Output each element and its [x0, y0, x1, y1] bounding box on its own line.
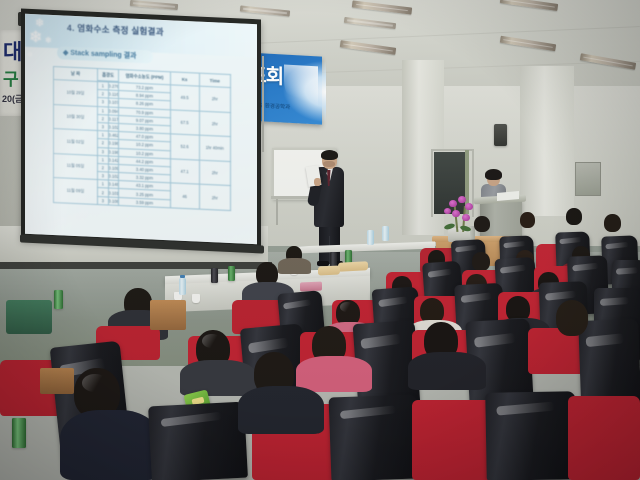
audience-shoulders [180, 360, 256, 396]
presenter-face-shadow [323, 161, 335, 167]
drink-can [211, 268, 218, 283]
cell-date: 11월 05일 [54, 153, 98, 180]
cell-ks: 47.1 [170, 159, 199, 185]
banner-left-line1: 대 [3, 36, 21, 66]
cell-date: 11월 09일 [54, 178, 98, 205]
orchid-flower [462, 214, 470, 221]
cell-time: 2hr [199, 184, 230, 210]
cell-ppm: 3.59 ppm [119, 197, 170, 208]
cell-no: 3 [97, 196, 108, 205]
audience-head [604, 214, 621, 232]
banner-left-line2: 구 [3, 65, 19, 90]
cell-date: 10월 30일 [54, 104, 98, 131]
audience-shoulders [408, 352, 486, 390]
cell-date: 10월 29일 [54, 80, 98, 107]
presenter-hand [314, 178, 321, 186]
wall-speaker-icon [494, 124, 507, 146]
snack-box [300, 282, 322, 292]
cell-ks: 49.5 [170, 85, 199, 111]
bottle-cap [180, 275, 185, 278]
banner-support-pole [262, 56, 264, 152]
hair-highlight [340, 302, 354, 312]
hair-highlight [82, 374, 108, 392]
paper-cup [192, 294, 200, 303]
audience-head [474, 216, 490, 232]
wooden-armrest [150, 300, 186, 330]
audience-shoulders [278, 258, 311, 274]
cell-ks: 52.6 [170, 134, 199, 160]
drink-can [54, 290, 63, 309]
snowflake-icon: ❄ [35, 18, 44, 29]
pillar [520, 66, 574, 216]
orchid-flower [452, 210, 460, 217]
cell-ks: 46 [170, 183, 199, 209]
green-bag [6, 300, 52, 334]
whiteboard-leg [276, 199, 278, 225]
audience-shoulders [238, 386, 324, 434]
seat-back [485, 391, 577, 480]
seat-cushion [568, 396, 640, 480]
water-bottle [367, 230, 374, 245]
lecture-hall-photo: 대 구 20(금) 발표회 표회 한국대학교 환경공학과 ❄ ❄ ❄ ❄ 4. … [0, 0, 640, 480]
cell-time: 2hr [199, 160, 230, 186]
screen-surface: ❄ ❄ ❄ ❄ 4. 염화수소 측정 실험결과 ◆ Stack sampling… [25, 14, 257, 245]
orchid-flower [465, 203, 473, 210]
slide-data-table: 날 짜 흡광도 염화수소농도 (PPM) Ks Time 10월 29일10.2… [53, 66, 231, 211]
cell-time: 2hr [199, 111, 230, 137]
snack-plate [338, 261, 368, 272]
hair-highlight [202, 334, 222, 348]
electrical-panel [575, 162, 601, 196]
seat-back [329, 394, 420, 480]
cell-ks: 67.5 [170, 109, 199, 135]
cell-date: 11월 02일 [54, 129, 98, 156]
audience-shoulders [296, 356, 372, 392]
th-ks: Ks [170, 72, 199, 86]
audience-head [566, 208, 582, 225]
snowflake-icon: ❄ [29, 30, 42, 47]
drink-can [12, 418, 26, 448]
audience-head [556, 300, 588, 336]
snack-plate [318, 265, 340, 275]
drink-can [228, 266, 235, 281]
th-absorbance: 흡광도 [97, 69, 118, 82]
water-bottle [382, 226, 389, 241]
presenter-hair [321, 150, 338, 160]
cell-absorbance: 0.108 ABS [108, 197, 119, 206]
seat-back [148, 402, 248, 480]
audience-shoulders [60, 410, 160, 480]
orchid-flower [449, 200, 457, 207]
orchid-flower [458, 196, 466, 203]
moderator-hair [485, 169, 502, 180]
table-body: 10월 29일10.276 ABS73.2 ppm49.52hr20.116 A… [54, 80, 231, 211]
audience-head [520, 212, 535, 228]
presentation-slide: ❄ ❄ ❄ ❄ 4. 염화수소 측정 실험결과 ◆ Stack sampling… [25, 14, 257, 245]
projection-screen: ❄ ❄ ❄ ❄ 4. 염화수소 측정 실험결과 ◆ Stack sampling… [21, 9, 261, 251]
orchid-flower [444, 208, 451, 214]
cell-time: 1hr 40min [199, 135, 230, 161]
snowflake-icon: ❄ [27, 52, 33, 59]
cell-time: 2hr [199, 86, 230, 112]
wooden-armrest [40, 368, 74, 394]
snowflake-icon: ❄ [45, 37, 52, 45]
audience-head [472, 252, 490, 271]
water-bottle [179, 278, 186, 295]
